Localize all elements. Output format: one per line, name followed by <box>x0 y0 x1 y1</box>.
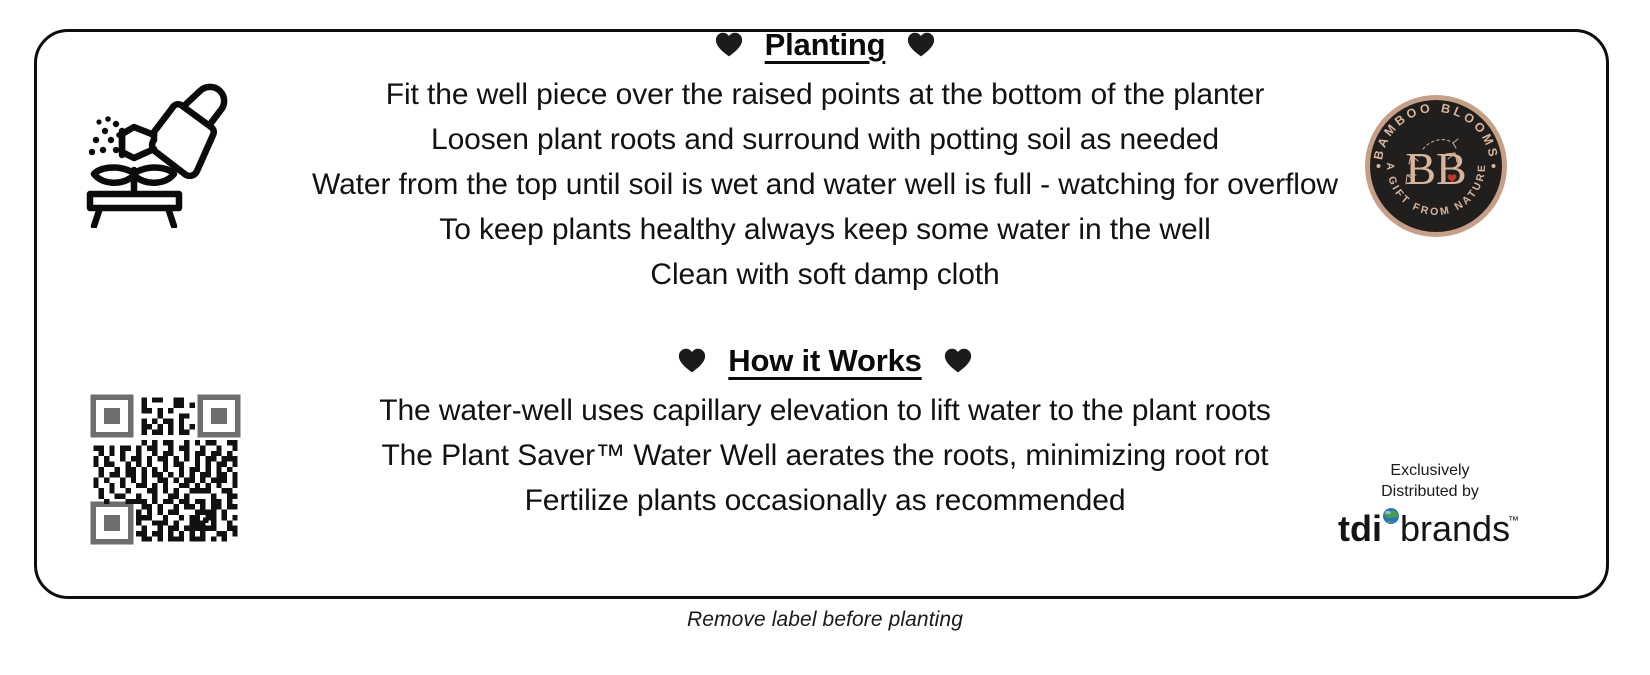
footer-note: Remove label before planting <box>0 608 1650 632</box>
tdibrands-light-text: brands <box>1400 508 1510 549</box>
how-it-works-heading: How it Works <box>728 343 921 379</box>
how-it-works-heading-row: How it Works <box>0 338 1650 384</box>
heart-icon <box>715 31 743 59</box>
instruction-line: The water-well uses capillary elevation … <box>0 388 1650 433</box>
distributor-line-2: Distributed by <box>1320 481 1540 502</box>
heart-icon <box>907 31 935 59</box>
planting-heading: Planting <box>765 27 886 63</box>
distributor-block: Exclusively Distributed by tdi brands ™ <box>1320 460 1540 548</box>
tdibrands-logo: tdi brands ™ <box>1320 508 1540 548</box>
tdibrands-bold-text: tdi <box>1338 508 1382 549</box>
distributor-line-1: Exclusively <box>1320 460 1540 481</box>
bamboo-blooms-logo: BAMBOO BLOOMS A GIFT FROM NATURE BB <box>1363 93 1509 239</box>
heart-icon <box>678 347 706 375</box>
tdibrands-trademark: ™ <box>1508 515 1519 527</box>
instruction-line: Clean with soft damp cloth <box>0 252 1650 297</box>
seal-monogram: BB <box>1405 143 1466 194</box>
qr-code[interactable] <box>88 392 243 552</box>
planting-heading-row: Planting <box>0 22 1650 68</box>
heart-icon <box>944 347 972 375</box>
